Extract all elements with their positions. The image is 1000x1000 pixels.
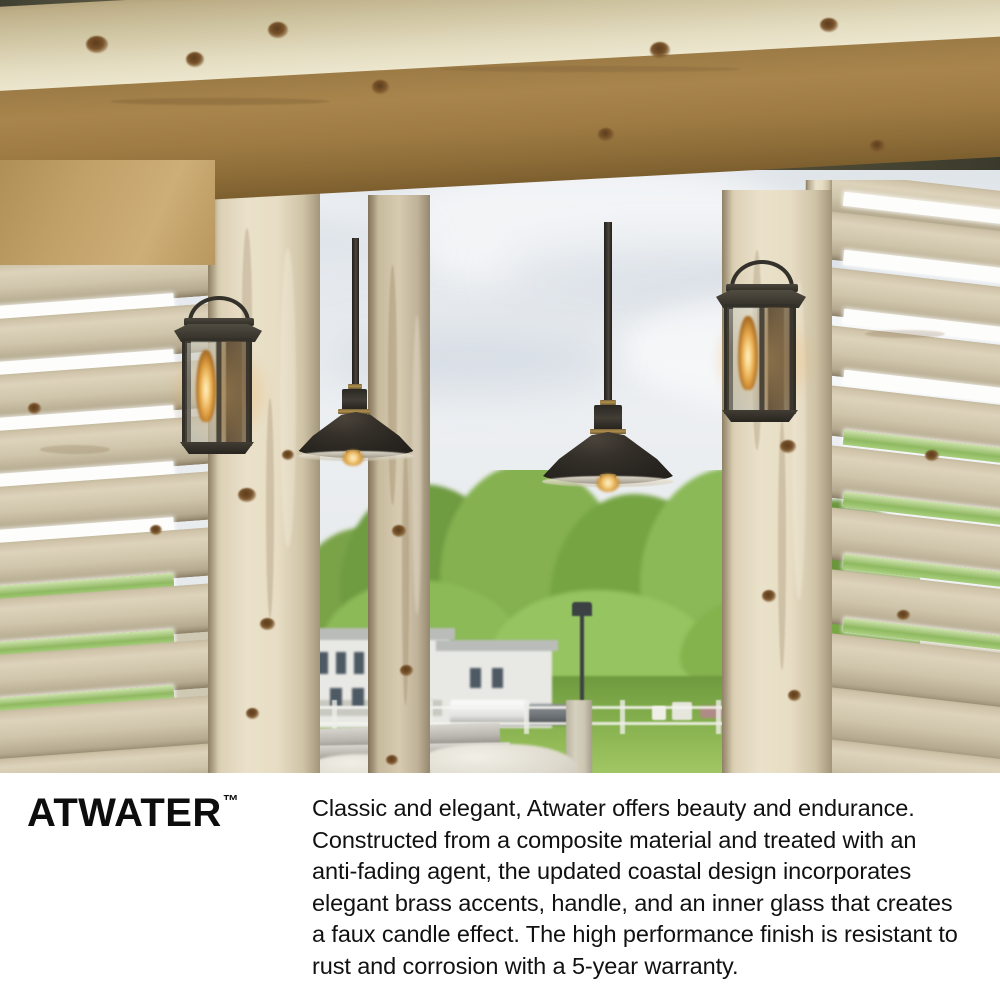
sconce-base-plate: [180, 442, 254, 454]
sconce-lantern-body: [724, 304, 796, 414]
beam-knot: [650, 42, 670, 58]
house-window: [492, 668, 503, 688]
beam-knot: [598, 128, 614, 141]
house-window: [336, 652, 346, 674]
pendant-downrod: [604, 222, 612, 402]
house-window: [352, 688, 364, 706]
sconce-lantern-body: [182, 338, 252, 446]
beam-knot: [268, 22, 288, 38]
product-description: Classic and elegant, Atwater offers beau…: [312, 793, 962, 983]
brand-name: ATWATER™: [27, 793, 238, 833]
beam-grain: [110, 98, 330, 105]
house-window: [354, 652, 364, 674]
product-hero-photo: [0, 0, 1000, 773]
pendant-downrod: [352, 238, 359, 386]
fence-post: [716, 700, 721, 734]
beam-grain: [440, 66, 740, 72]
beam-knot: [820, 18, 838, 32]
ceiling-soffit: [0, 160, 215, 265]
pendant-light-left[interactable]: [320, 238, 430, 468]
product-photo-card: ATWATER™ Classic and elegant, Atwater of…: [0, 0, 1000, 1000]
fence-post: [620, 700, 625, 734]
house-roof: [436, 640, 558, 651]
pendant-light-right[interactable]: [540, 222, 680, 472]
wall-lantern-right[interactable]: [708, 258, 820, 436]
beam-knot: [86, 36, 108, 53]
trademark-icon: ™: [223, 793, 239, 810]
beam-knot: [870, 140, 885, 152]
sconce-candle-flame: [196, 350, 216, 422]
yard-object: [672, 702, 692, 720]
yard-lamppost-head: [572, 602, 592, 616]
caption-panel: ATWATER™ Classic and elegant, Atwater of…: [0, 773, 1000, 1000]
pendant-neck: [594, 405, 622, 431]
pendant-bulb: [596, 474, 620, 492]
fence-post: [524, 700, 529, 734]
sconce-base-plate: [722, 410, 798, 422]
pendant-neck: [342, 389, 367, 411]
pendant-bulb: [342, 450, 364, 466]
beam-knot: [186, 52, 204, 67]
louver-wall-right: [805, 180, 1000, 773]
post-left-main: [208, 188, 320, 773]
house-window: [470, 668, 481, 688]
sconce-candle-flame: [738, 316, 758, 390]
brand-name-text: ATWATER: [27, 791, 222, 835]
wall-lantern-left[interactable]: [168, 292, 278, 467]
beam-knot: [372, 80, 389, 94]
